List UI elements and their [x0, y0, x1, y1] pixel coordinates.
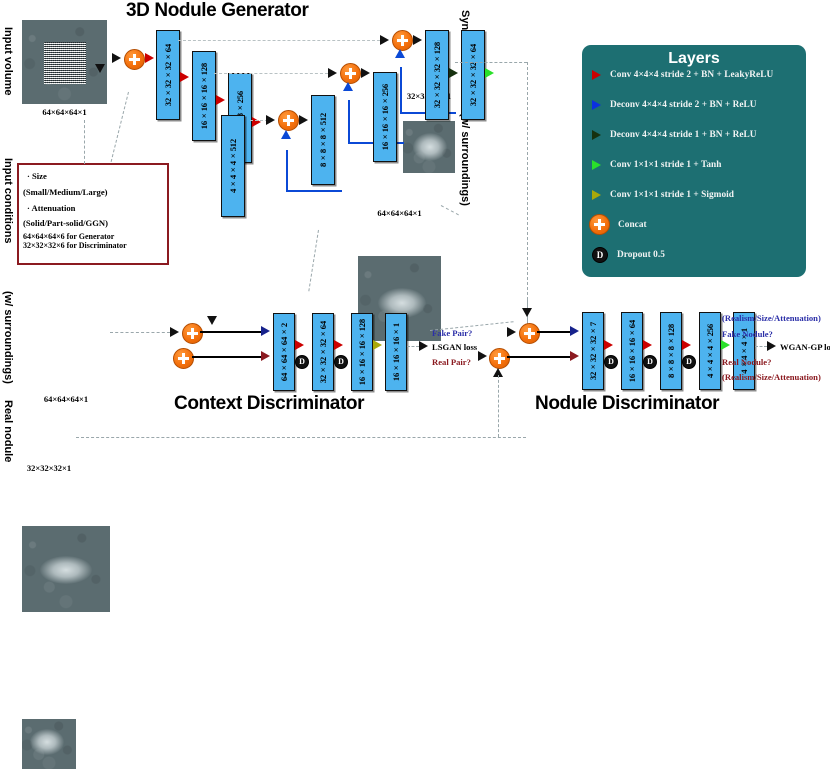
input-volume-label: Input volume — [2, 27, 13, 95]
condition-feed-line-1 — [84, 120, 85, 164]
nodule-conv-arrow-2 — [643, 340, 652, 350]
generator-block-dec2-label: 16×16×16×256 — [380, 84, 390, 150]
nodule-concat-fake[interactable] — [519, 323, 540, 344]
real-nodule-image — [22, 719, 76, 769]
nodule-fake-label: Fake Nodule? — [722, 329, 773, 339]
nodule-dropout-2: D — [643, 355, 657, 369]
dropout-icon: D — [592, 247, 608, 263]
conv-tanh-arrow-icon — [592, 160, 601, 170]
gen-deconv-arrow-1 — [413, 35, 422, 45]
skip-arrow-2 — [328, 68, 337, 78]
nodule-real-label: Real Nodule? — [722, 357, 771, 367]
with-surroundings-left-label: (w/ surroundings) — [2, 291, 13, 384]
context-fake-arrow-icon — [170, 327, 179, 337]
legend-row-5: Concat — [589, 214, 647, 235]
legend-row-6: D Dropout 0.5 — [592, 247, 665, 263]
skip-arrow-3 — [266, 115, 275, 125]
nodule-block-4-label: 4×4×4×256 — [705, 324, 715, 378]
skip-connection-2 — [214, 73, 328, 74]
generator-block-dec4: 32×32×32×64 — [461, 30, 485, 120]
nodule-condition-arrow-icon — [522, 308, 532, 317]
context-sigmoid-arrow — [373, 340, 382, 350]
nodule-fake-in-arrow — [570, 326, 579, 336]
context-condition-arrow-icon — [207, 316, 217, 325]
nodule-conv-arrow-3 — [682, 340, 691, 350]
synthetic-nodule-image — [403, 121, 455, 173]
context-fake-in-arrow — [261, 326, 270, 336]
condition-discriminator-shape: 32×32×32×6 for Discriminator — [23, 242, 167, 250]
gen-deconv-stride1-arrow — [449, 68, 458, 78]
nodule-concat-real[interactable] — [489, 348, 510, 369]
synthetic-with-surroundings-caption: 64×64×64×1 — [358, 208, 441, 218]
synthetic-to-nodule-disc-line — [455, 62, 527, 63]
nodule-attr-bottom-label: (Realism/Size/Attenuation) — [722, 372, 821, 382]
deconv-up-arrow-1 — [395, 49, 405, 58]
generator-block-enc1-label: 32×32×32×64 — [163, 44, 173, 106]
context-fake-label: Fake Pair? — [432, 328, 472, 338]
context-block-3-label: 16×16×16×128 — [357, 319, 367, 385]
synthetic-surroundings-line — [441, 205, 459, 215]
legend-row-3: Conv 1×1×1 stride 1 + Tanh — [592, 160, 721, 170]
generator-block-dec1-label: 8×8×8×512 — [318, 113, 328, 167]
legend-row-1: Deconv 4×4×4 stride 2 + BN + ReLU — [592, 100, 757, 110]
nodule-real-line — [507, 356, 573, 358]
nodule-attr-top-label: (Realism/Size/Attenuation) — [722, 313, 821, 323]
context-input-caption: 64×64×64×1 — [22, 394, 110, 404]
nodule-out-dash — [755, 346, 767, 347]
nodule-loss-arrow — [767, 341, 776, 351]
gen-conv-arrow-3 — [216, 95, 225, 105]
legend-text-2: Deconv 4×4×4 stride 1 + BN + ReLU — [610, 130, 757, 140]
condition-size-values: (Small/Medium/Large) — [23, 188, 167, 197]
deconv-up-arrow-3 — [281, 130, 291, 139]
context-block-2-label: 32×32×32×64 — [318, 321, 328, 383]
nodule-fake-arrow-icon — [507, 327, 516, 337]
nodule-fake-line — [537, 331, 573, 333]
skip-arrow-1 — [380, 35, 389, 45]
context-concat-fake[interactable] — [182, 323, 203, 344]
nodule-block-1: 32×32×32×7 — [582, 312, 604, 390]
nodule-block-3-label: 8×8×8×128 — [666, 324, 676, 378]
deconv-stride2-arrow-icon — [592, 100, 601, 110]
condition-attenuation: · Attenuation — [27, 204, 167, 213]
nodule-real-cond-line — [498, 375, 499, 437]
generator-block-enc4: 4×4×4×512 — [221, 115, 245, 217]
legend-row-4: Conv 1×1×1 stride 1 + Sigmoid — [592, 190, 734, 200]
deconv-up-arrow-2 — [343, 82, 353, 91]
context-block-3: 16×16×16×128 — [351, 313, 373, 391]
context-real-in-arrow — [261, 351, 270, 361]
conv-sigmoid-arrow-icon — [592, 190, 601, 200]
real-nodule-caption: 32×32×32×1 — [12, 463, 86, 473]
input-volume-caption: 64×64×64×1 — [22, 107, 107, 117]
generator-block-enc4-label: 4×4×4×512 — [228, 139, 238, 193]
with-surroundings-right-label: (w/ surroundings) — [459, 113, 470, 206]
condition-size: · Size — [27, 172, 167, 181]
nodule-block-1-label: 32×32×32×7 — [588, 322, 598, 380]
deconv-up-line-1 — [400, 67, 402, 114]
gen-tanh-arrow — [485, 68, 494, 78]
skip-connection-1 — [178, 40, 380, 41]
nodule-block-2: 16×16×16×64 — [621, 312, 643, 390]
gen-conv-arrow-2 — [180, 72, 189, 82]
generator-concat-input[interactable] — [124, 49, 145, 70]
generator-block-enc2: 16×16×16×128 — [192, 51, 216, 141]
deconv-up-line-3b — [286, 190, 342, 192]
condition-attenuation-values: (Solid/Part-solid/GGN) — [23, 219, 167, 228]
context-loss-label: LSGAN loss — [432, 342, 477, 352]
real-nodule-label: Real nodule — [2, 400, 13, 462]
nodule-real-in-arrow — [570, 351, 579, 361]
gen-deconv-arrow-3 — [299, 115, 308, 125]
nodule-discriminator-title: Nodule Discriminator — [535, 393, 719, 415]
legend-row-2: Deconv 4×4×4 stride 1 + BN + ReLU — [592, 130, 757, 140]
context-conv-arrow-2 — [334, 340, 343, 350]
legend-text-6: Dropout 0.5 — [617, 250, 665, 260]
nodule-tanh-arrow — [721, 340, 730, 350]
real-nodule-route — [76, 437, 526, 438]
input-conditions-label: Input conditions — [2, 158, 13, 244]
deconv-up-line-2 — [348, 100, 350, 144]
deconv-stride1-arrow-icon — [592, 130, 601, 140]
synthetic-to-nodule-disc-vline — [527, 62, 528, 330]
context-real-label: Real Pair? — [432, 357, 471, 367]
generator-concat-2[interactable] — [340, 63, 361, 84]
conv-stride2-arrow-icon — [592, 70, 601, 80]
legend-text-0: Conv 4×4×4 stride 2 + BN + LeakyReLU — [610, 70, 773, 80]
nodule-conv-arrow-1 — [604, 340, 613, 350]
context-dropout-2: D — [334, 355, 348, 369]
condition-into-concat-arrow-icon — [95, 64, 105, 73]
input-arrow-icon — [112, 53, 121, 63]
deconv-up-line-3 — [286, 150, 288, 192]
condition-generator-shape: 64×64×64×6 for Generator — [23, 233, 167, 241]
context-real-line — [192, 356, 264, 358]
gen-conv-arrow-4 — [252, 117, 261, 127]
input-volume-image — [22, 20, 107, 104]
context-concat-real[interactable] — [173, 348, 194, 369]
context-discriminator-title: Context Discriminator — [174, 393, 364, 415]
nodule-dropout-1: D — [604, 355, 618, 369]
generator-block-dec3: 32×32×32×128 — [425, 30, 449, 120]
input-conditions-box: · Size (Small/Medium/Large) · Attenuatio… — [17, 163, 169, 265]
context-loss-arrow — [419, 341, 428, 351]
nodule-block-2-label: 16×16×16×64 — [627, 320, 637, 382]
generator-block-dec1: 8×8×8×512 — [311, 95, 335, 185]
nodule-real-feed-arrow — [478, 351, 487, 361]
nodule-block-4: 4×4×4×256 — [699, 312, 721, 390]
context-out-dash — [407, 346, 419, 347]
nodule-loss-label: WGAN-GP loss — [780, 342, 830, 352]
gen-deconv-arrow-2 — [361, 68, 370, 78]
context-block-1: 64×64×64×2 — [273, 313, 295, 391]
generator-block-dec2: 16×16×16×256 — [373, 72, 397, 162]
legend-text-4: Conv 1×1×1 stride 1 + Sigmoid — [610, 190, 734, 200]
generator-concat-3[interactable] — [278, 110, 299, 131]
context-input-to-concat — [110, 332, 170, 333]
context-fake-line — [200, 331, 264, 333]
context-block-2: 32×32×32×64 — [312, 313, 334, 391]
nodule-dropout-3: D — [682, 355, 696, 369]
legend-text-1: Deconv 4×4×4 stride 2 + BN + ReLU — [610, 100, 757, 110]
context-conv-arrow-1 — [295, 340, 304, 350]
context-block-4-label: 16×16×16×1 — [391, 323, 401, 381]
generator-block-dec3-label: 32×32×32×128 — [432, 42, 442, 108]
context-block-4: 16×16×16×1 — [385, 313, 407, 391]
generator-block-enc2-label: 16×16×16×128 — [199, 63, 209, 129]
generator-title: 3D Nodule Generator — [126, 0, 308, 22]
generator-concat-1[interactable] — [392, 30, 413, 51]
legend-text-5: Concat — [618, 220, 647, 230]
nodule-block-3: 8×8×8×128 — [660, 312, 682, 390]
context-feed-vline — [308, 230, 319, 291]
legend-row-0: Conv 4×4×4 stride 2 + BN + LeakyReLU — [592, 70, 773, 80]
context-dropout-1: D — [295, 355, 309, 369]
generator-block-dec4-label: 32×32×32×64 — [468, 44, 478, 106]
gen-conv-arrow-1 — [145, 53, 154, 63]
context-block-1-label: 64×64×64×2 — [279, 323, 289, 381]
generator-block-enc1: 32×32×32×64 — [156, 30, 180, 120]
legend-text-3: Conv 1×1×1 stride 1 + Tanh — [610, 160, 721, 170]
condition-feed-line-2 — [111, 92, 129, 162]
context-input-image — [22, 526, 110, 612]
legend-title: Layers — [582, 45, 806, 68]
concat-icon — [589, 214, 610, 235]
